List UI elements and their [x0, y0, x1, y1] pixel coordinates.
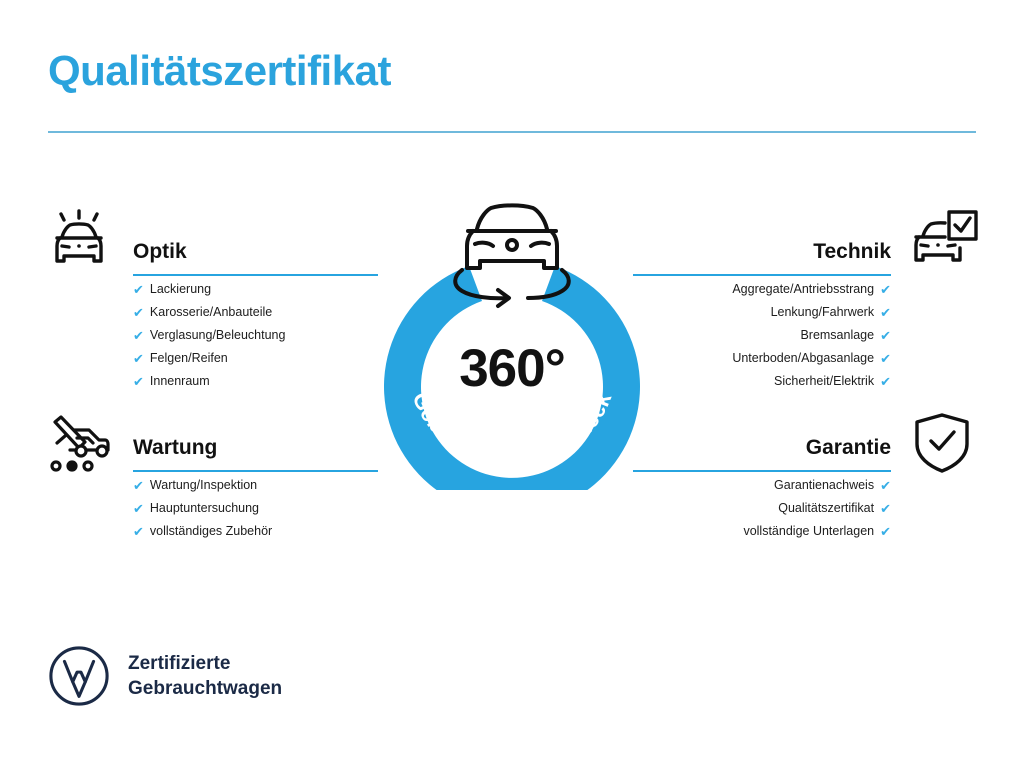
certificate-page: Qualitätszertifikat Optik ✔Lackierung ✔K…	[0, 0, 1024, 768]
car-service-pencil-icon	[44, 414, 114, 481]
list-item: ✔Verglasung/Beleuchtung	[133, 324, 378, 347]
shield-check-icon	[910, 410, 974, 481]
footer-line-2: Gebrauchtwagen	[128, 676, 282, 701]
list-item: ✔Karosserie/Anbauteile	[133, 301, 378, 324]
section-wartung: Wartung ✔Wartung/Inspektion ✔Hauptunters…	[133, 434, 378, 543]
list-item-label: Qualitätszertifikat	[778, 497, 874, 520]
list-item-label: Wartung/Inspektion	[150, 474, 257, 497]
section-optik: Optik ✔Lackierung ✔Karosserie/Anbauteile…	[133, 238, 378, 393]
footer-text: Zertifizierte Gebrauchtwagen	[128, 651, 282, 701]
list-item-label: Aggregate/Antriebsstrang	[732, 278, 874, 301]
check-icon: ✔	[880, 283, 891, 296]
check-icon: ✔	[133, 283, 144, 296]
section-technik-header: Technik	[633, 238, 891, 278]
list-item-label: Felgen/Reifen	[150, 347, 228, 370]
section-garantie-underline	[633, 470, 891, 472]
list-item: ✔Innenraum	[133, 370, 378, 393]
title-divider	[48, 131, 976, 133]
list-item: Unterboden/Abgasanlage✔	[633, 347, 891, 370]
list-item-label: Lenkung/Fahrwerk	[771, 301, 875, 324]
list-item-label: Sicherheit/Elektrik	[774, 370, 874, 393]
section-technik-underline	[633, 274, 891, 276]
section-optik-header: Optik	[133, 238, 378, 278]
check-icon: ✔	[880, 375, 891, 388]
car-front-shine-icon	[44, 206, 114, 281]
list-item: ✔vollständiges Zubehör	[133, 520, 378, 543]
section-garantie-header: Garantie	[633, 434, 891, 474]
list-item-label: Garantienachweis	[774, 474, 874, 497]
list-item: ✔Lackierung	[133, 278, 378, 301]
section-technik: Technik Aggregate/Antriebsstrang✔ Lenkun…	[633, 238, 891, 393]
list-item: vollständige Unterlagen✔	[633, 520, 891, 543]
check-icon: ✔	[880, 329, 891, 342]
section-optik-underline	[133, 274, 378, 276]
badge-number: 360°	[376, 338, 648, 399]
section-wartung-title: Wartung	[133, 434, 378, 462]
badge-360-gebrauchtwagen-check: Gebrauchtwagen-Check 360°	[376, 190, 648, 490]
check-icon: ✔	[133, 352, 144, 365]
section-technik-list: Aggregate/Antriebsstrang✔ Lenkung/Fahrwe…	[633, 278, 891, 393]
car-front-checkbox-icon	[905, 206, 980, 281]
check-icon: ✔	[133, 502, 144, 515]
check-icon: ✔	[880, 525, 891, 538]
check-icon: ✔	[880, 479, 891, 492]
check-icon: ✔	[133, 525, 144, 538]
section-wartung-list: ✔Wartung/Inspektion ✔Hauptuntersuchung ✔…	[133, 474, 378, 543]
list-item-label: Unterboden/Abgasanlage	[732, 347, 874, 370]
section-garantie: Garantie Garantienachweis✔ Qualitätszert…	[633, 434, 891, 543]
list-item-label: Lackierung	[150, 278, 211, 301]
list-item: ✔Hauptuntersuchung	[133, 497, 378, 520]
check-icon: ✔	[880, 502, 891, 515]
list-item-label: Innenraum	[150, 370, 210, 393]
section-optik-list: ✔Lackierung ✔Karosserie/Anbauteile ✔Verg…	[133, 278, 378, 393]
list-item-label: Bremsanlage	[800, 324, 874, 347]
list-item: Garantienachweis✔	[633, 474, 891, 497]
check-icon: ✔	[133, 329, 144, 342]
list-item: Bremsanlage✔	[633, 324, 891, 347]
list-item-label: vollständige Unterlagen	[743, 520, 874, 543]
check-icon: ✔	[880, 352, 891, 365]
list-item-label: Karosserie/Anbauteile	[150, 301, 272, 324]
list-item-label: Verglasung/Beleuchtung	[150, 324, 286, 347]
section-wartung-underline	[133, 470, 378, 472]
vw-logo: Zertifizierte Gebrauchtwagen	[48, 645, 282, 707]
section-technik-title: Technik	[633, 238, 891, 266]
list-item: ✔Felgen/Reifen	[133, 347, 378, 370]
list-item: ✔Wartung/Inspektion	[133, 474, 378, 497]
section-optik-title: Optik	[133, 238, 378, 266]
list-item: Aggregate/Antriebsstrang✔	[633, 278, 891, 301]
list-item: Lenkung/Fahrwerk✔	[633, 301, 891, 324]
list-item-label: vollständiges Zubehör	[150, 520, 272, 543]
list-item-label: Hauptuntersuchung	[150, 497, 259, 520]
section-garantie-list: Garantienachweis✔ Qualitätszertifikat✔ v…	[633, 474, 891, 543]
check-icon: ✔	[133, 306, 144, 319]
section-wartung-header: Wartung	[133, 434, 378, 474]
list-item: Sicherheit/Elektrik✔	[633, 370, 891, 393]
check-icon: ✔	[133, 375, 144, 388]
check-icon: ✔	[880, 306, 891, 319]
vw-roundel-icon	[48, 645, 110, 707]
section-garantie-title: Garantie	[633, 434, 891, 462]
page-title: Qualitätszertifikat	[48, 48, 391, 94]
list-item: Qualitätszertifikat✔	[633, 497, 891, 520]
footer-line-1: Zertifizierte	[128, 651, 282, 676]
check-icon: ✔	[133, 479, 144, 492]
